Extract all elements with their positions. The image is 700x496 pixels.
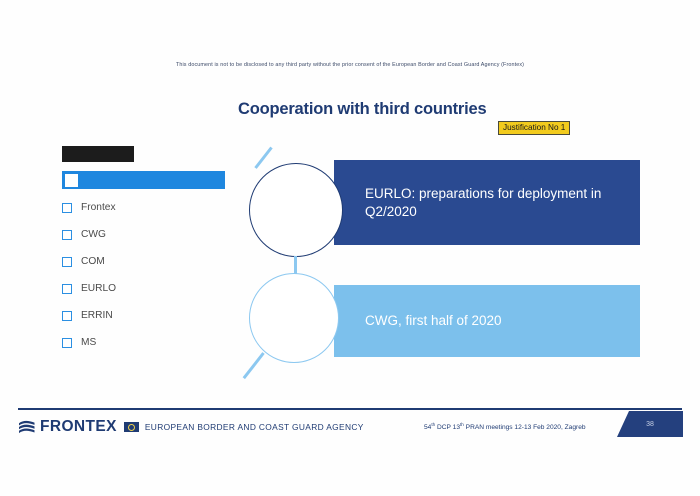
options-sidebar: Frontex CWG COM EURLO ERRIN MS	[62, 146, 237, 361]
diagram-bar-cwg: CWG, first half of 2020	[334, 285, 640, 357]
checkbox-frontex[interactable]	[62, 203, 72, 213]
sidebar-item-redacted[interactable]	[62, 171, 225, 189]
checkbox-com[interactable]	[62, 257, 72, 267]
checkbox-cwg[interactable]	[62, 230, 72, 240]
diagram-node-circle-top	[249, 163, 343, 257]
eu-flag-icon	[124, 422, 139, 432]
meeting-info: 54th DCP 13th PRAN meetings 12-13 Feb 20…	[424, 422, 586, 431]
diagram-bar-label: EURLO: preparations for deployment in Q2…	[334, 185, 640, 220]
connector-line-top	[254, 147, 272, 169]
frontex-wordmark: FRONTEX	[40, 418, 117, 436]
slide-page: This document is not to be disclosed to …	[0, 0, 700, 496]
meeting-suffix: PRAN meetings 12-13 Feb 2020, Zagreb	[464, 424, 586, 431]
diagram-node-circle-bottom	[249, 273, 339, 363]
eu-stars-ring	[128, 424, 135, 431]
sidebar-item-ms[interactable]: MS	[62, 334, 237, 351]
confidentiality-disclaimer: This document is not to be disclosed to …	[0, 62, 700, 68]
sidebar-item-label: ERRIN	[81, 310, 113, 321]
sidebar-item-cwg[interactable]: CWG	[62, 226, 237, 243]
frontex-wave-icon	[18, 420, 36, 435]
checkbox-errin[interactable]	[62, 311, 72, 321]
diagram-bar-eurlo: EURLO: preparations for deployment in Q2…	[334, 160, 640, 245]
diagram-bar-label: CWG, first half of 2020	[334, 312, 502, 329]
connector-line-middle	[294, 256, 297, 276]
sidebar-item-label: CWG	[81, 229, 106, 240]
sidebar-item-errin[interactable]: ERRIN	[62, 307, 237, 324]
agency-name-text: EUROPEAN BORDER AND COAST GUARD AGENCY	[145, 422, 364, 432]
frontex-logo: FRONTEX EUROPEAN BORDER AND COAST GUARD …	[18, 418, 364, 436]
redaction-bar-black	[62, 146, 134, 162]
justification-badge: Justification No 1	[498, 121, 570, 135]
footer-divider	[18, 408, 682, 410]
page-title: Cooperation with third countries	[238, 100, 486, 119]
sidebar-item-com[interactable]: COM	[62, 253, 237, 270]
sidebar-item-label: COM	[81, 256, 105, 267]
checkbox-eurlo[interactable]	[62, 284, 72, 294]
connector-line-bottom	[243, 352, 265, 379]
meeting-mid: DCP 13	[435, 424, 460, 431]
sidebar-item-label: MS	[81, 337, 96, 348]
sidebar-item-frontex[interactable]: Frontex	[62, 199, 237, 216]
checkbox-ms[interactable]	[62, 338, 72, 348]
sidebar-item-label: Frontex	[81, 202, 116, 213]
checkbox-redacted[interactable]	[65, 174, 78, 187]
sidebar-item-label: EURLO	[81, 283, 116, 294]
page-number-badge: 38	[617, 411, 683, 437]
sidebar-item-eurlo[interactable]: EURLO	[62, 280, 237, 297]
